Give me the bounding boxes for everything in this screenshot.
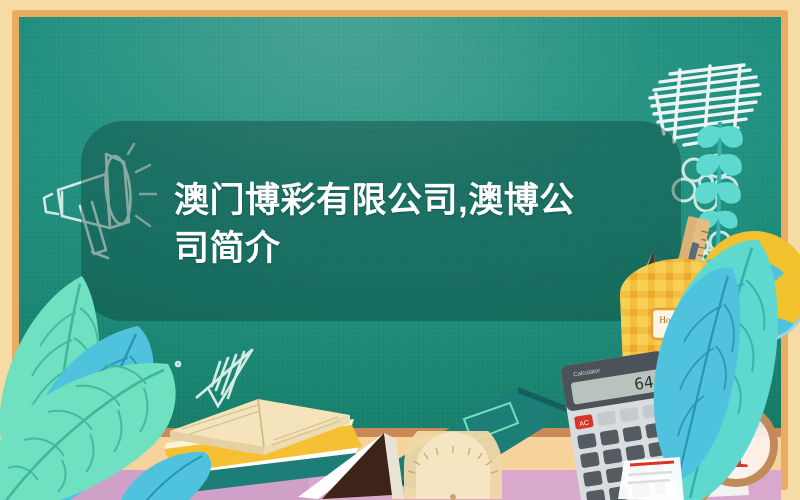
protractor: [398, 431, 508, 500]
plant-leaf-small-teal: [112, 444, 222, 500]
page-title-line-2: 司简介: [174, 225, 624, 273]
paper-sheets: [612, 443, 692, 500]
poster-root: 澳门博彩有限公司,澳博公 司简介: [0, 0, 800, 500]
page-title: 澳门博彩有限公司,澳博公 司简介: [174, 177, 624, 272]
page-title-line-1: 澳门博彩有限公司,澳博公: [174, 177, 624, 225]
